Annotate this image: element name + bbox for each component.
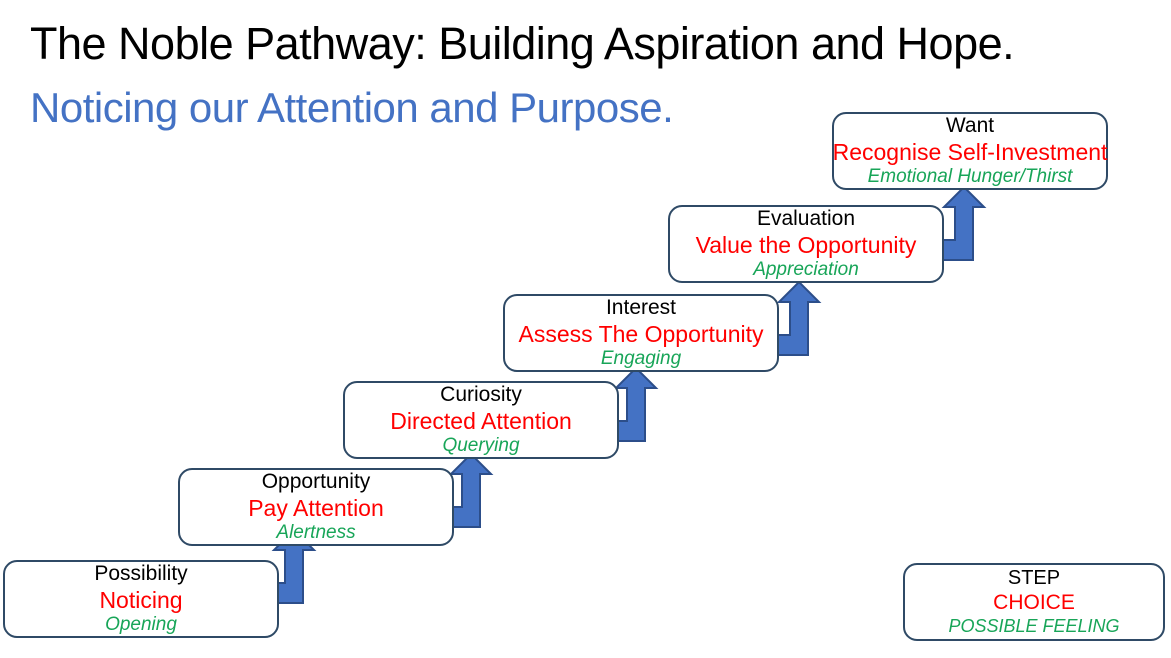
step-feeling-evaluation: Appreciation [753, 259, 859, 281]
step-box-evaluation[interactable]: Evaluation Value the Opportunity Appreci… [668, 205, 944, 283]
step-choice-curiosity: Directed Attention [390, 408, 572, 435]
step-title-curiosity: Curiosity [440, 383, 522, 408]
slide-canvas: The Noble Pathway: Building Aspiration a… [0, 0, 1171, 658]
step-choice-evaluation: Value the Opportunity [696, 232, 917, 259]
slide-title: The Noble Pathway: Building Aspiration a… [30, 20, 1014, 67]
step-box-curiosity[interactable]: Curiosity Directed Attention Querying [343, 381, 619, 459]
step-choice-opportunity: Pay Attention [248, 495, 384, 522]
legend-label-step: STEP [1008, 567, 1060, 591]
step-title-evaluation: Evaluation [757, 207, 855, 232]
arrow-evaluation-to-want [935, 185, 1005, 265]
step-box-opportunity[interactable]: Opportunity Pay Attention Alertness [178, 468, 454, 546]
step-title-want: Want [946, 114, 994, 139]
step-feeling-curiosity: Querying [442, 435, 519, 457]
step-title-interest: Interest [606, 296, 676, 321]
step-box-interest[interactable]: Interest Assess The Opportunity Engaging [503, 294, 779, 372]
step-choice-possibility: Noticing [99, 587, 182, 614]
step-title-opportunity: Opportunity [262, 470, 371, 495]
legend-label-choice: CHOICE [993, 591, 1075, 616]
step-choice-want: Recognise Self-Investment [833, 139, 1108, 166]
step-feeling-interest: Engaging [601, 348, 681, 370]
step-feeling-opportunity: Alertness [276, 522, 355, 544]
legend-key-box: STEP CHOICE POSSIBLE FEELING [903, 563, 1165, 641]
step-box-possibility[interactable]: Possibility Noticing Opening [3, 560, 279, 638]
step-title-possibility: Possibility [94, 562, 187, 587]
legend-label-feeling: POSSIBLE FEELING [948, 616, 1119, 637]
step-feeling-want: Emotional Hunger/Thirst [868, 166, 1073, 188]
step-box-want[interactable]: Want Recognise Self-Investment Emotional… [832, 112, 1108, 190]
slide-subtitle: Noticing our Attention and Purpose. [30, 86, 673, 130]
step-feeling-possibility: Opening [105, 614, 177, 636]
arrow-interest-to-evaluation [770, 280, 840, 360]
step-choice-interest: Assess The Opportunity [518, 321, 763, 348]
